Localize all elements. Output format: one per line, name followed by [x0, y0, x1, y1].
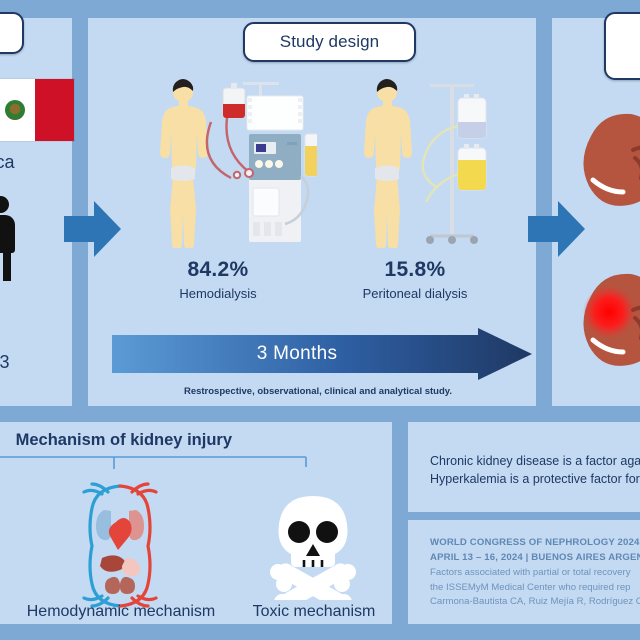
hemodialysis-stat: 84.2% Hemodialysis [138, 258, 298, 301]
hemodialysis-label: Hemodialysis [138, 286, 298, 301]
people-group-icon [0, 196, 56, 320]
study-type-note: Restrospective, observational, clinical … [112, 386, 524, 397]
duration-banner-label: 3 Months [112, 328, 482, 380]
poster-stage: oluca O 3 Study design [0, 0, 640, 640]
city-label: oluca [0, 152, 48, 173]
footer-line-4: the ISSEMyM Medical Center who required … [430, 581, 640, 596]
panel-outcome-title: O d [604, 12, 640, 80]
peritoneal-dialysis-value: 15.8% [330, 258, 500, 282]
circulatory-system-icon [60, 480, 180, 610]
footer-line-1: WORLD CONGRESS OF NEPHROLOGY 2024 [430, 536, 640, 551]
hemodialysis-value: 84.2% [138, 258, 298, 282]
panel-study-design-title: Study design [243, 22, 416, 62]
iv-drip-stand-icon [408, 78, 494, 250]
footer-line-2: APRIL 13 – 16, 2024 | BUENOS AIRES ARGEN… [430, 551, 640, 566]
mechanism-heading: Mechanism of kidney injury [0, 428, 252, 452]
kidney-icon [575, 110, 640, 206]
footer-text: WORLD CONGRESS OF NEPHROLOGY 2024 APRIL … [430, 536, 640, 610]
mexico-flag-icon [0, 79, 74, 141]
panel-population-title [0, 12, 24, 54]
footer-line-3: Factors associated with partial or total… [430, 566, 640, 581]
duration-banner: 3 Months [112, 328, 532, 380]
peritoneal-dialysis-stat: 15.8% Peritoneal dialysis [330, 258, 500, 301]
conclusion-line-2: Hyperkalemia is a protective factor for … [430, 470, 640, 488]
footer-line-5: Carmona-Bautista CA, Ruiz Mejía R, Rodrí… [430, 595, 640, 610]
kidney-injury-icon [575, 270, 640, 366]
right-arrow-icon [64, 199, 122, 259]
right-arrow-icon [528, 199, 586, 259]
conclusion-line-1: Chronic kidney disease is a factor again… [430, 452, 640, 470]
population-count-label: O 3 [0, 352, 38, 373]
mexico-coat-of-arms-icon [5, 100, 25, 120]
peritoneal-dialysis-label: Peritoneal dialysis [330, 286, 500, 301]
mechanism-caption-toxic: Toxic mechanism [235, 603, 393, 621]
mechanism-caption-hemodynamic: Hemodynamic mechanism [0, 603, 266, 621]
hemodialysis-machine-icon [205, 80, 317, 248]
conclusion-text: Chronic kidney disease is a factor again… [430, 452, 640, 488]
bracket-connector [0, 455, 310, 471]
skull-and-crossbones-icon [258, 490, 368, 600]
